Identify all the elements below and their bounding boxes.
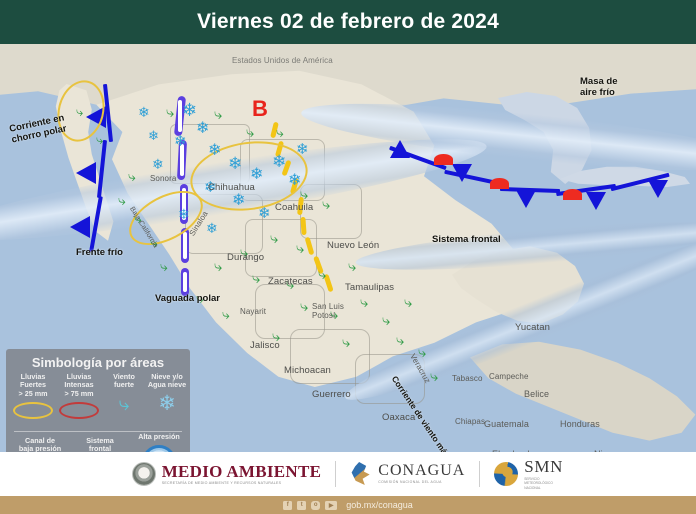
legend-item-intense-rain: Lluvias Intensas > 75 mm	[56, 373, 102, 419]
wind-icon: ⤷	[128, 168, 136, 185]
map-label-state: Oaxaca	[382, 412, 415, 423]
weather-map: B ❄	[0, 44, 696, 452]
cold-air-mass-line-1: Masa de	[580, 76, 618, 87]
wind-icon: ⤷	[270, 230, 278, 247]
wind-icon: ⤷	[404, 294, 412, 311]
front-triangle	[648, 180, 668, 198]
polar-trough-inner	[183, 232, 187, 259]
wind-icon: ⤷	[300, 186, 308, 203]
annotation-frontal-system: Sistema frontal	[432, 234, 501, 245]
front-triangle	[452, 164, 472, 182]
map-label-state: Coahuila	[275, 202, 313, 213]
logo-subtitle: SECRETARÍA DE MEDIO AMBIENTE Y RECURSOS …	[162, 482, 322, 486]
social-url[interactable]: gob.mx/conagua	[346, 500, 413, 510]
snow-icon: ❄	[182, 100, 197, 121]
map-label-state: Yucatan	[515, 322, 550, 333]
snow-icon: ❄	[228, 154, 242, 174]
wind-icon: ⤷	[214, 106, 222, 123]
annotation-cold-air-mass: Masa de aire frío	[580, 76, 618, 98]
snow-icon: ❄	[196, 118, 209, 138]
cold-front-barb	[76, 162, 96, 184]
logo-title: SMN	[524, 458, 564, 475]
conagua-eagle-icon	[350, 462, 372, 486]
front-triangle	[586, 192, 606, 210]
map-label-state: San Luis Potosí	[312, 302, 350, 320]
logo-title: CONAGUA	[378, 463, 465, 479]
cold-front-barb	[70, 216, 90, 238]
header-bar: Viernes 02 de febrero de 2024	[0, 0, 696, 44]
map-label-state: Chihuahua	[208, 182, 255, 193]
front-semicircle	[434, 154, 453, 165]
front-triangle	[390, 140, 410, 158]
map-label-state: Chiapas	[455, 417, 485, 426]
snow-icon: ❄	[138, 104, 150, 121]
annotation-polar-trough: Vaguada polar	[155, 293, 220, 304]
snow-icon: ❄	[258, 204, 271, 222]
legend-label: baja presión	[12, 445, 68, 452]
map-label-state: Campeche	[489, 372, 529, 381]
smn-spiral-icon	[494, 462, 518, 486]
wind-icon: ⤷	[118, 192, 126, 209]
map-label-country: Estados Unidos de América	[232, 56, 333, 65]
twitter-icon[interactable]: t	[297, 501, 306, 510]
logo-subtitle: SERVICIO METEOROLÓGICO NACIONAL	[524, 477, 564, 490]
legend-label: frontal	[72, 445, 128, 452]
facebook-icon[interactable]: f	[283, 501, 292, 510]
snow-icon: ❄	[272, 152, 286, 172]
wind-icon: ⤷	[76, 104, 83, 120]
snowflake-icon: ❄	[144, 393, 190, 414]
legend-label: > 75 mm	[56, 390, 102, 398]
wind-icon: ⤷	[322, 196, 330, 213]
wind-icon: ⤷	[360, 294, 368, 311]
wind-icon: ⤷	[296, 240, 304, 257]
snow-icon: ❄	[206, 220, 218, 237]
snow-icon: ❄	[148, 128, 159, 144]
snow-icon: ❄	[178, 206, 190, 223]
legend-label: Agua nieve	[144, 381, 190, 389]
legend-item-heavy-rain: Lluvias Fuertes > 25 mm	[10, 373, 56, 419]
legend-item-strong-wind: Viento fuerte ⤷	[102, 373, 146, 414]
snow-icon: ❄	[232, 190, 245, 210]
page-title: Viernes 02 de febrero de 2024	[197, 10, 499, 34]
legend-item-low-pressure-trough: Canal de baja presión	[12, 437, 68, 452]
front-semicircle	[490, 178, 509, 189]
legend-label: Alta presión	[130, 433, 188, 441]
polar-trough-inner	[183, 272, 187, 292]
legend-label: fuerte	[102, 381, 146, 389]
annotation-jet-stream: Corriente en chorro polar	[8, 112, 67, 145]
wind-icon: ⤷	[382, 312, 390, 329]
cold-air-mass-line-2: aire frío	[580, 87, 618, 98]
map-label-state: Nuevo León	[327, 240, 379, 251]
instagram-icon[interactable]: o	[311, 501, 320, 510]
wind-icon: ⤷	[96, 132, 103, 148]
snow-icon: ❄	[208, 140, 221, 160]
mexico-seal-icon	[132, 462, 156, 486]
ellipse-red-icon	[59, 402, 99, 419]
logo-subtitle: COMISIÓN NACIONAL DEL AGUA	[378, 481, 465, 484]
footer-logos: MEDIO AMBIENTE SECRETARÍA DE MEDIO AMBIE…	[0, 452, 696, 496]
high-pressure-icon: A	[142, 445, 176, 452]
map-label-state: Durango	[227, 252, 264, 263]
wind-icon: ⤷	[348, 258, 356, 275]
wind-icon: ⤷	[430, 368, 438, 385]
map-label-country: Belice	[524, 389, 549, 399]
annotation-cold-front: Frente frío	[76, 247, 123, 258]
logo-smn: SMN SERVICIO METEOROLÓGICO NACIONAL	[494, 458, 564, 490]
logo-medio-ambiente: MEDIO AMBIENTE SECRETARÍA DE MEDIO AMBIE…	[132, 462, 322, 486]
wind-icon: ⤷	[342, 334, 350, 351]
wind-icon: ⤷	[396, 332, 404, 349]
wind-icon: ⤷	[246, 124, 254, 141]
snow-icon: ❄	[174, 132, 187, 150]
legend-label: > 25 mm	[10, 390, 56, 398]
legend-panel: Simbología por áreas Lluvias Fuertes > 2…	[6, 349, 190, 452]
map-label-state: Nayarit	[240, 307, 266, 316]
social-bar: f t o ▶ gob.mx/conagua	[0, 496, 696, 514]
wind-icon: ⤷	[222, 306, 230, 323]
low-pressure-marker: B	[252, 96, 268, 122]
snow-icon: ❄	[250, 164, 263, 184]
legend-item-snow: Nieve y/o Agua nieve ❄	[144, 373, 190, 414]
wind-icon: ⤷	[252, 270, 260, 287]
legend-item-high-pressure: Alta presión A	[130, 433, 188, 452]
wind-icon: ⤷	[166, 104, 174, 121]
logo-divider	[335, 461, 336, 487]
logo-conagua: CONAGUA COMISIÓN NACIONAL DEL AGUA	[350, 462, 465, 486]
legend-title: Simbología por áreas	[6, 355, 190, 370]
snow-icon: ❄	[152, 156, 164, 173]
map-label-state: Guerrero	[312, 389, 351, 400]
weather-map-page: Viernes 02 de febrero de 2024	[0, 0, 696, 514]
front-triangle	[516, 190, 536, 208]
legend-item-frontal-system: Sistema frontal	[72, 437, 128, 452]
wind-icon: ⤷	[300, 298, 308, 315]
youtube-icon[interactable]: ▶	[325, 501, 337, 510]
wind-icon: ⤷	[318, 266, 326, 283]
map-label-state: Tamaulipas	[345, 282, 394, 293]
front-semicircle	[563, 189, 582, 200]
wind-icon: ⤷	[160, 258, 168, 275]
map-label-state: Michoacan	[284, 365, 331, 376]
map-label-state: Jalisco	[250, 340, 280, 351]
map-label-state: Zacatecas	[268, 276, 313, 287]
wind-icon: ⤷	[102, 395, 146, 414]
map-label-state: Tabasco	[452, 374, 483, 383]
wind-icon: ⤷	[214, 258, 222, 275]
map-label-country: Guatemala	[484, 419, 529, 429]
wind-icon: ⤷	[276, 124, 284, 141]
map-label-country: Honduras	[560, 419, 600, 429]
snow-icon: ❄	[296, 140, 309, 158]
ellipse-yellow-icon	[13, 402, 53, 419]
logo-divider	[479, 461, 480, 487]
map-label-state: Sonora	[150, 174, 176, 183]
logo-title: MEDIO AMBIENTE	[162, 463, 322, 480]
